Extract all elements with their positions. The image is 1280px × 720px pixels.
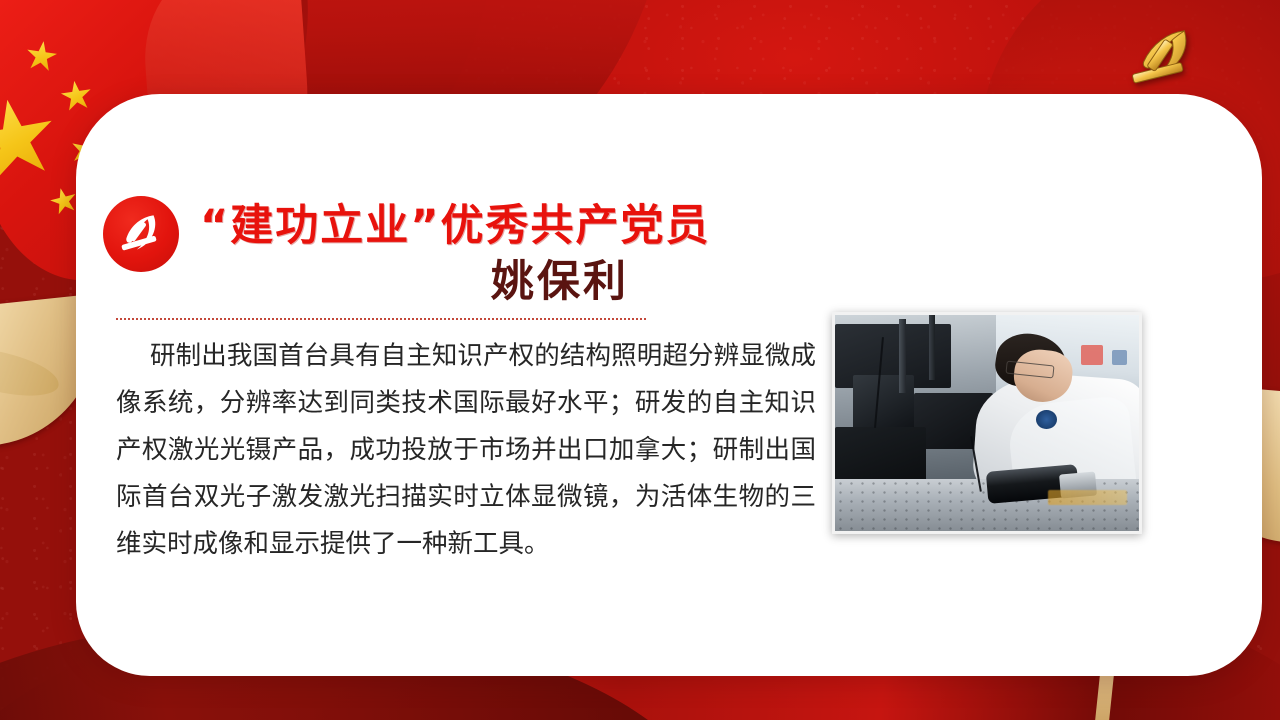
hammer-sickle-badge-icon: [103, 196, 179, 272]
flag-star-small-1-icon: [25, 39, 59, 73]
body-paragraph: 研制出我国首台具有自主知识产权的结构照明超分辨显微成像系统，分辨率达到同类技术国…: [116, 333, 816, 568]
photo-window-object-2: [1112, 350, 1127, 365]
slide-root: “建功立业”优秀共产党员 姚保利 研制出我国首台具有自主知识产权的结构照明超分辨…: [0, 0, 1280, 720]
flag-star-small-4-icon: [48, 185, 80, 217]
flag-star-large-icon: [0, 93, 61, 186]
photo-rod-1: [899, 319, 907, 392]
photo-watermark: [1048, 490, 1127, 505]
photo-frame: [832, 312, 1142, 534]
lab-photo: [835, 315, 1139, 531]
hammer-sickle-gold-icon: [1118, 26, 1202, 96]
flag-star-small-2-icon: [59, 79, 93, 113]
person-name: 姚保利: [200, 258, 920, 306]
dotted-divider: [116, 318, 646, 320]
photo-rod-2: [929, 315, 935, 380]
photo-window-object-1: [1081, 345, 1102, 364]
page-title: “建功立业”优秀共产党员: [200, 202, 920, 250]
